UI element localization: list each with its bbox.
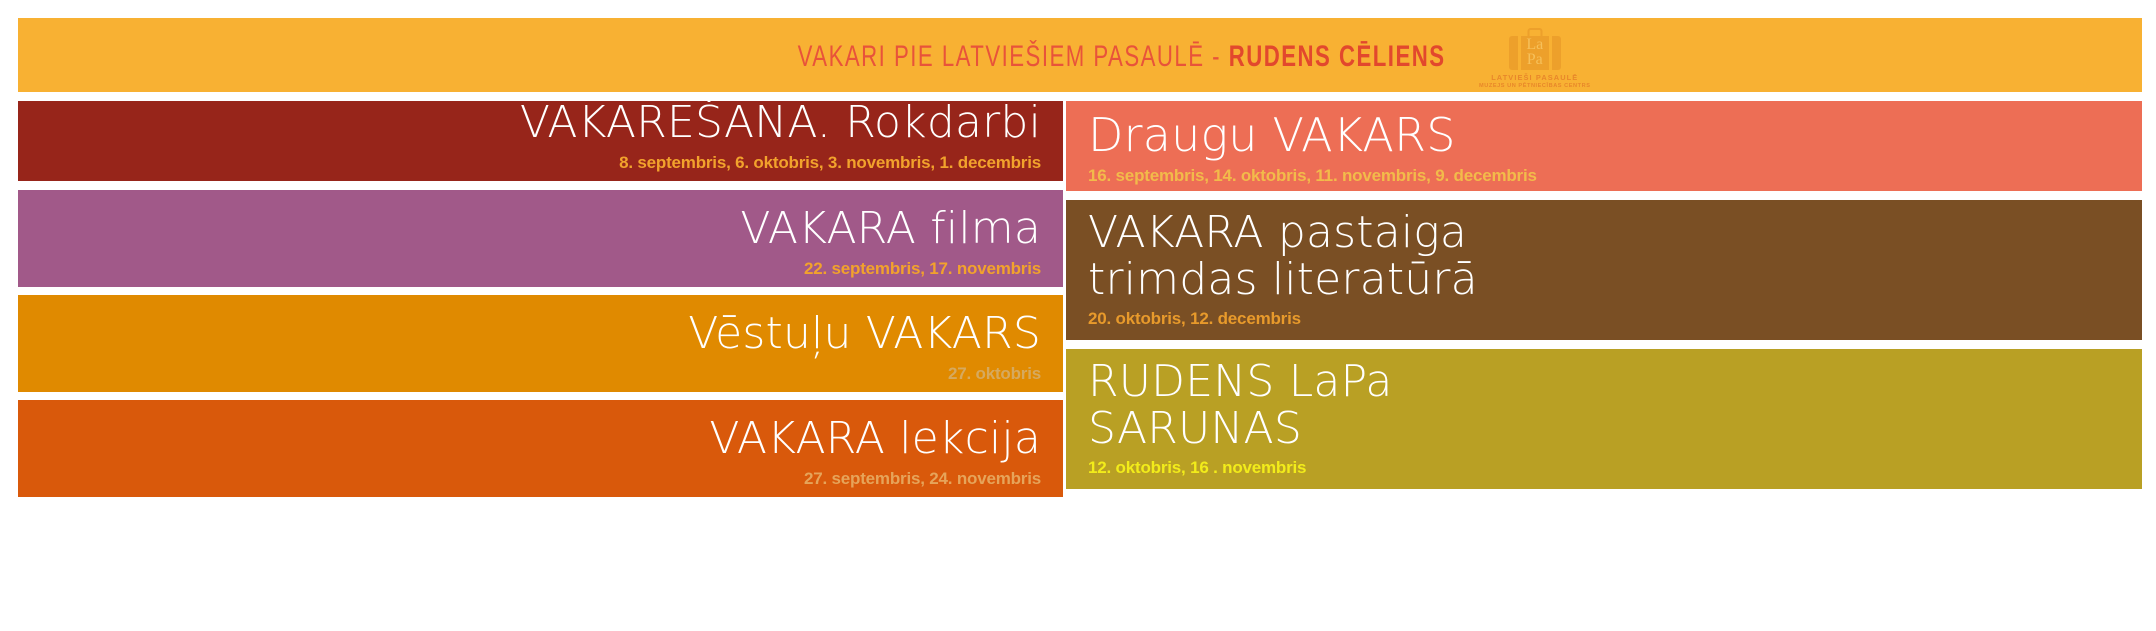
event-title: VAKARA lekcija [709,416,1041,463]
event-dates: 22. septembris, 17. novembris [740,259,1041,279]
poster-root: VAKARI PIE LATVIEŠIEM PASAULĒ - RUDENS C… [0,0,2156,631]
event-title: VAKARA filma [740,206,1041,253]
event-title: VAKARĒŠANA. Rokdarbi [520,101,1041,147]
event-card-text: VAKARA filma 22. septembris, 17. novembr… [740,206,1041,279]
event-card-text: VAKARA pastaiga trimdas literatūrā 20. o… [1088,210,1478,329]
header-banner: VAKARI PIE LATVIEŠIEM PASAULĒ - RUDENS C… [18,18,2142,92]
event-card-rudens-lapa-sarunas[interactable]: RUDENS LaPa SARUNAS 12. oktobris, 16 . n… [1066,349,2142,489]
header-inner: VAKARI PIE LATVIEŠIEM PASAULĒ - RUDENS C… [570,27,1591,88]
page-title-regular: VAKARI PIE LATVIEŠIEM PASAULĒ - [797,40,1228,73]
event-card-vakara-pastaiga[interactable]: VAKARA pastaiga trimdas literatūrā 20. o… [1066,200,2142,340]
event-card-vestulu-vakars[interactable]: Vēstuļu VAKARS 27. oktobris [18,295,1063,392]
event-dates: 12. oktobris, 16 . novembris [1088,458,1393,478]
event-card-vakaresana[interactable]: VAKARĒŠANA. Rokdarbi 8. septembris, 6. o… [18,101,1063,181]
event-title: RUDENS LaPa SARUNAS [1088,359,1393,452]
logo: La Pa LATVIEŠI PASAULĒ MUZEJS UN PĒTNIEC… [1479,28,1590,89]
suitcase-icon: La Pa [1509,28,1561,70]
event-dates: 27. septembris, 24. novembris [709,469,1041,489]
event-dates: 16. septembris, 14. oktobris, 11. novemb… [1088,166,1537,186]
event-card-text: VAKARA lekcija 27. septembris, 24. novem… [709,416,1041,489]
logo-caption-primary: LATVIEŠI PASAULĒ [1491,73,1578,82]
page-title: VAKARI PIE LATVIEŠIEM PASAULĒ - RUDENS C… [797,40,1445,74]
right-column: Draugu VAKARS 16. septembris, 14. oktobr… [1066,101,2142,615]
event-card-text: Draugu VAKARS 16. septembris, 14. oktobr… [1088,111,1537,186]
logo-caption-secondary: MUZEJS UN PĒTNIECĪBAS CENTRS [1479,83,1590,89]
event-title: VAKARA pastaiga trimdas literatūrā [1088,210,1478,303]
event-card-text: VAKARĒŠANA. Rokdarbi 8. septembris, 6. o… [520,101,1041,173]
event-title: Vēstuļu VAKARS [688,311,1041,358]
event-card-draugu-vakars[interactable]: Draugu VAKARS 16. septembris, 14. oktobr… [1066,101,2142,191]
event-dates: 27. oktobris [688,364,1041,384]
page-title-strong: RUDENS CĒLIENS [1228,40,1445,73]
event-dates: 8. septembris, 6. oktobris, 3. novembris… [520,153,1041,173]
event-title: Draugu VAKARS [1088,111,1537,160]
event-dates: 20. oktobris, 12. decembris [1088,309,1478,329]
logo-monogram: La Pa [1509,36,1561,70]
event-card-text: Vēstuļu VAKARS 27. oktobris [688,311,1041,384]
event-card-vakara-filma[interactable]: VAKARA filma 22. septembris, 17. novembr… [18,190,1063,287]
logo-monogram-line-2: Pa [1527,53,1543,68]
left-column: VAKARĒŠANA. Rokdarbi 8. septembris, 6. o… [18,101,1063,615]
event-card-text: RUDENS LaPa SARUNAS 12. oktobris, 16 . n… [1088,359,1393,478]
event-card-vakara-lekcija[interactable]: VAKARA lekcija 27. septembris, 24. novem… [18,400,1063,497]
